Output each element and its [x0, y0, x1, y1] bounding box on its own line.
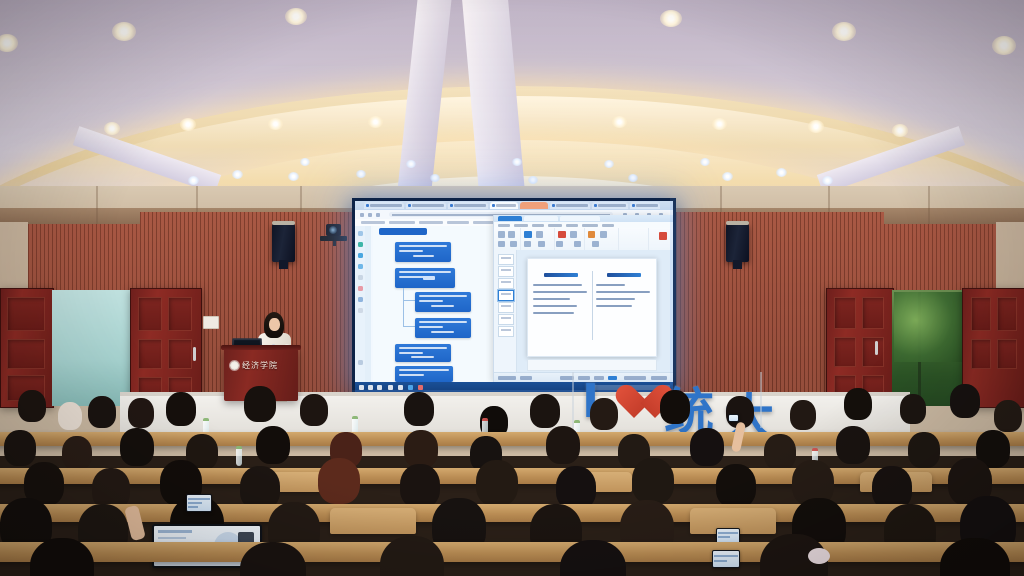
ribbon-button[interactable]	[510, 241, 517, 247]
flowchart-canvas[interactable]	[373, 226, 493, 382]
sidebar-icon[interactable]	[358, 231, 363, 236]
flowchart-connector	[403, 288, 404, 300]
bookmark-item[interactable]	[361, 221, 385, 224]
audience-head	[120, 428, 154, 466]
audience-head	[404, 392, 434, 426]
slide-thumbnail[interactable]	[498, 254, 514, 265]
sidebar-icon[interactable]	[358, 286, 363, 291]
audience-head	[58, 402, 82, 430]
flowchart-pane	[355, 226, 493, 382]
podium-label: 经济学院	[242, 361, 278, 370]
audience-head	[764, 434, 796, 470]
flowchart-node[interactable]	[395, 344, 451, 362]
projected-desktop	[355, 201, 673, 393]
slide-thumbnail-panel[interactable]	[494, 250, 517, 373]
audience-head	[476, 460, 518, 506]
audience-head	[632, 458, 674, 504]
downlight-icon	[406, 160, 416, 168]
app-titlebar	[494, 215, 673, 222]
audience-head	[844, 388, 872, 420]
browser-tab[interactable]	[406, 202, 446, 209]
desk-row	[0, 504, 1024, 522]
document-outline-strip	[365, 226, 371, 382]
downlight-icon	[628, 174, 638, 182]
audience-head	[546, 426, 580, 464]
downlight-icon	[356, 170, 366, 178]
downlight-icon	[268, 118, 283, 130]
lecture-hall-photo: 经济学院 I 统 大	[0, 0, 1024, 576]
audience-head	[690, 428, 724, 466]
audience-head	[256, 426, 290, 464]
downlight-icon	[112, 22, 136, 41]
audience-head	[318, 458, 360, 504]
ribbon-button[interactable]	[659, 232, 667, 240]
wall-seam	[928, 186, 930, 226]
desk-row	[0, 542, 1024, 562]
podium-top	[221, 345, 301, 350]
projection-screen	[352, 198, 676, 396]
downlight-icon	[188, 176, 199, 185]
ribbon-tab[interactable]	[582, 224, 598, 227]
ribbon-button[interactable]	[556, 241, 563, 247]
browser-tab[interactable]	[550, 202, 590, 209]
downlight-icon	[832, 22, 856, 41]
sidebar-icon[interactable]	[358, 264, 363, 269]
audience-head	[836, 426, 870, 464]
audience-head	[166, 392, 196, 426]
downlight-icon	[104, 122, 120, 135]
audience-head	[950, 384, 980, 418]
audience-area	[0, 372, 1024, 576]
browser-tab[interactable]	[364, 202, 404, 209]
slide-thumbnail[interactable]	[498, 266, 514, 277]
downlight-icon	[528, 176, 538, 184]
audience-head	[128, 398, 154, 428]
downlight-icon	[822, 176, 833, 185]
camera-mount	[320, 236, 347, 241]
ribbon-button[interactable]	[498, 231, 505, 238]
flowchart-connector	[403, 300, 404, 326]
browser-tab[interactable]	[630, 202, 660, 209]
flowchart-connector	[403, 326, 415, 327]
slide-thumbnail[interactable]	[498, 302, 514, 313]
downlight-icon	[722, 172, 733, 181]
downlight-icon	[892, 124, 908, 137]
downlight-icon	[612, 116, 627, 128]
ribbon-button[interactable]	[538, 241, 545, 247]
forward-icon[interactable]	[368, 213, 372, 217]
column-heading	[607, 273, 641, 277]
bullet-line	[596, 298, 635, 301]
browser-tab[interactable]	[448, 202, 488, 209]
bullet-line	[533, 312, 574, 315]
wall-seam	[96, 186, 98, 226]
downlight-icon	[232, 170, 243, 179]
ribbon-tab[interactable]	[548, 224, 562, 227]
downlight-icon	[368, 116, 383, 128]
flowchart-connector	[403, 300, 415, 301]
ribbon-button[interactable]	[536, 231, 543, 238]
ribbon-button[interactable]	[600, 231, 607, 238]
seat-back	[330, 508, 416, 534]
bookmark-item[interactable]	[389, 221, 415, 224]
wall-switch-plate[interactable]	[203, 316, 219, 329]
slide-column-divider	[592, 271, 593, 341]
audience-head	[62, 436, 92, 470]
slide-column-right	[596, 273, 652, 312]
bullet-line	[533, 305, 577, 308]
foliage-outside	[894, 292, 966, 362]
downlight-icon	[992, 36, 1016, 55]
ribbon-button[interactable]	[592, 241, 599, 247]
ribbon-tab[interactable]	[514, 224, 528, 227]
ribbon-tab[interactable]	[498, 224, 510, 227]
water-bottle	[236, 446, 242, 466]
hair-tie-accessory	[808, 548, 830, 564]
downlight-icon	[660, 10, 682, 27]
sidebar-icon[interactable]	[358, 253, 363, 258]
ribbon-button[interactable]	[524, 241, 531, 247]
browser-tabstrip	[355, 201, 673, 210]
ribbon-button[interactable]	[508, 231, 515, 238]
slide-thumbnail[interactable]	[498, 326, 514, 337]
audience-head	[908, 432, 940, 468]
doc-tab-active[interactable]	[498, 216, 522, 221]
bullet-line	[533, 284, 581, 287]
bookmark-item[interactable]	[419, 221, 443, 224]
sidebar-add-icon[interactable]	[358, 360, 363, 365]
downlight-icon	[300, 158, 310, 166]
ribbon-button[interactable]	[570, 231, 577, 238]
flowchart-node[interactable]	[395, 268, 455, 288]
downlight-icon	[430, 174, 440, 182]
audience-head	[88, 396, 116, 428]
back-icon[interactable]	[360, 213, 364, 217]
browser-tab[interactable]	[592, 202, 628, 209]
flowchart-node[interactable]	[415, 292, 471, 312]
bookmark-item[interactable]	[447, 221, 469, 224]
downlight-icon	[604, 160, 614, 168]
downlight-icon	[180, 118, 196, 131]
bullet-line	[596, 305, 632, 308]
flowchart-node[interactable]	[395, 242, 451, 262]
editor-body	[494, 250, 673, 373]
ribbon-button[interactable]	[524, 231, 532, 238]
camera-icon	[326, 224, 341, 236]
audience-head	[900, 394, 926, 424]
notes-pane[interactable]	[527, 359, 657, 371]
downlight-icon	[712, 118, 727, 130]
ribbon-tab[interactable]	[532, 224, 544, 227]
ceiling	[0, 0, 1024, 215]
column-heading	[544, 273, 578, 277]
downlight-icon	[776, 168, 787, 177]
flowchart-header-bar	[379, 228, 427, 235]
downlight-icon	[700, 158, 710, 166]
bullet-line	[533, 291, 587, 294]
audience-head	[716, 464, 756, 508]
slide-column-left	[533, 273, 589, 319]
downlight-icon	[808, 120, 824, 133]
downlight-icon	[285, 8, 307, 25]
slide-thumbnail[interactable]	[498, 314, 514, 325]
door-handle[interactable]	[875, 341, 878, 355]
browser-tab-active[interactable]	[490, 202, 518, 209]
slide-canvas[interactable]	[527, 258, 657, 357]
ribbon-tab[interactable]	[566, 224, 578, 227]
reload-icon[interactable]	[376, 213, 380, 217]
audience-head	[530, 394, 560, 428]
audience-head	[404, 430, 438, 468]
door-handle[interactable]	[193, 347, 196, 361]
audience-head	[994, 400, 1022, 432]
downlight-icon	[0, 34, 18, 52]
audience-head	[660, 390, 690, 424]
ribbon-toolbar	[494, 228, 673, 251]
audience-head	[244, 386, 276, 422]
slide-thumbnail-selected[interactable]	[498, 290, 514, 301]
downlight-icon	[288, 172, 299, 181]
doc-tab[interactable]	[560, 216, 600, 221]
ribbon-button[interactable]	[498, 241, 505, 247]
audience-head	[400, 464, 440, 508]
sidebar-icon[interactable]	[358, 242, 363, 247]
audience-head	[4, 430, 36, 466]
downlight-icon	[512, 158, 522, 166]
ribbon-button[interactable]	[588, 231, 595, 238]
sidebar-icon[interactable]	[358, 275, 363, 280]
audience-head	[300, 394, 328, 426]
bullet-line	[596, 291, 650, 294]
wall-speaker-left	[272, 224, 295, 262]
bullet-line	[596, 284, 625, 287]
flowchart-node[interactable]	[415, 318, 471, 338]
sidebar-icon[interactable]	[358, 308, 363, 313]
slide-thumbnail[interactable]	[498, 278, 514, 289]
doc-tab[interactable]	[524, 216, 558, 221]
sidebar-icon[interactable]	[358, 297, 363, 302]
phone-in-hand[interactable]	[712, 550, 740, 568]
ribbon-button[interactable]	[574, 241, 581, 247]
phone-recording[interactable]	[186, 494, 212, 512]
audience-head	[590, 398, 618, 430]
phone-recording[interactable]	[728, 414, 739, 422]
audience-head	[790, 400, 816, 430]
browser-tab[interactable]	[520, 202, 548, 209]
presentation-window	[493, 215, 673, 382]
bullet-line	[533, 298, 570, 301]
presenter-face	[269, 318, 280, 331]
university-emblem-icon	[230, 361, 239, 370]
ribbon-button[interactable]	[558, 231, 566, 238]
wall-speaker-right	[726, 224, 749, 262]
bookmark-item[interactable]	[473, 221, 495, 224]
ribbon-tab[interactable]	[602, 224, 614, 227]
audience-head	[18, 390, 46, 422]
